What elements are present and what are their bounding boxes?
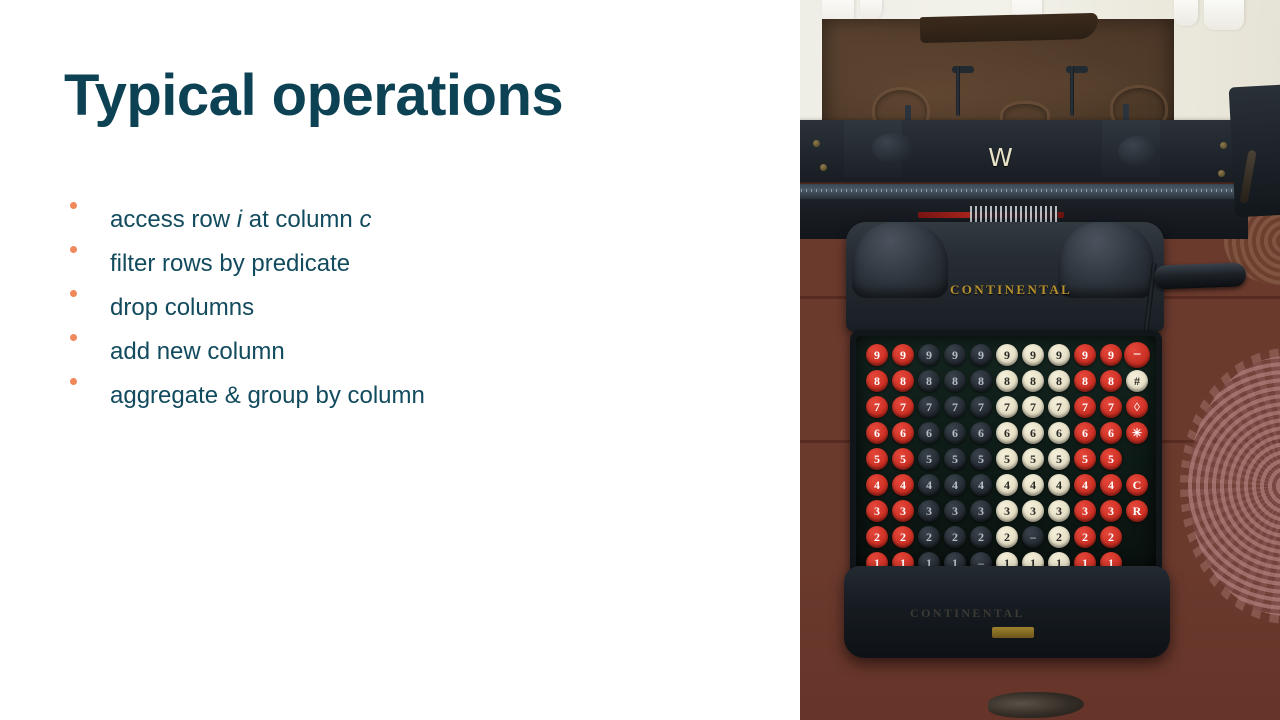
machine-base-badge	[992, 627, 1034, 638]
key-7-col7[interactable]: 7	[1022, 396, 1044, 418]
key-3-col4[interactable]: 3	[944, 500, 966, 522]
key-7-col9[interactable]: 7	[1074, 396, 1096, 418]
key-2-col8[interactable]: 2	[1048, 526, 1070, 548]
key-5-col10[interactable]: 5	[1100, 448, 1122, 470]
key-7-col10[interactable]: 7	[1100, 396, 1122, 418]
content-pane: Typical operations access row i at colum…	[0, 0, 800, 720]
crank-handle-grip	[1154, 262, 1247, 289]
adding-machine-photo: W CONTINENTAL 9999999999−8888888888#7777…	[800, 0, 1280, 720]
function-key-−-row1[interactable]: −	[1124, 342, 1150, 368]
carriage-knob-right	[1118, 136, 1160, 166]
key-9-col4[interactable]: 9	[944, 344, 966, 366]
key-9-col9[interactable]: 9	[1074, 344, 1096, 366]
key-grid: 9999999999−8888888888#7777777777◊6666666…	[864, 342, 1150, 576]
platen-rail	[800, 184, 1248, 200]
slide: Typical operations access row i at colum…	[0, 0, 1280, 720]
list-item-label: add new column	[110, 330, 285, 374]
key-4-col4[interactable]: 4	[944, 474, 966, 496]
key-8-col8[interactable]: 8	[1048, 370, 1070, 392]
key-5-col1[interactable]: 5	[866, 448, 888, 470]
key-2-col1[interactable]: 2	[866, 526, 888, 548]
key-3-col8[interactable]: 3	[1048, 500, 1070, 522]
carriage-post	[1123, 104, 1129, 120]
carriage-rod	[956, 66, 960, 116]
page-title: Typical operations	[64, 66, 563, 127]
bullet-dot-icon	[64, 359, 110, 403]
key-7-col3[interactable]: 7	[918, 396, 940, 418]
key-8-col5[interactable]: 8	[970, 370, 992, 392]
curtain-fold	[1204, 0, 1244, 30]
key-9-col5[interactable]: 9	[970, 344, 992, 366]
function-key-◊-row3[interactable]: ◊	[1126, 396, 1148, 418]
key-6-col10[interactable]: 6	[1100, 422, 1122, 444]
function-key-C-row6[interactable]: C	[1126, 474, 1148, 496]
key-3-col5[interactable]: 3	[970, 500, 992, 522]
key-6-col1[interactable]: 6	[866, 422, 888, 444]
key-4-col7[interactable]: 4	[1022, 474, 1044, 496]
key-6-col6[interactable]: 6	[996, 422, 1018, 444]
key-5-col4[interactable]: 5	[944, 448, 966, 470]
leather-flap	[920, 13, 1099, 43]
curtain-fold	[1174, 0, 1198, 26]
key-8-col9[interactable]: 8	[1074, 370, 1096, 392]
key-6-col9[interactable]: 6	[1074, 422, 1096, 444]
key-7-col5[interactable]: 7	[970, 396, 992, 418]
key-2-col2[interactable]: 2	[892, 526, 914, 548]
key-4-col10[interactable]: 4	[1100, 474, 1122, 496]
machine-base-brand-label: CONTINENTAL	[910, 606, 1110, 621]
key-5-col5[interactable]: 5	[970, 448, 992, 470]
key-2-col6[interactable]: 2	[996, 526, 1018, 548]
key-5-col7[interactable]: 5	[1022, 448, 1044, 470]
function-key-R-row7[interactable]: R	[1126, 500, 1148, 522]
carriage-rod	[1070, 66, 1074, 116]
key-5-col6[interactable]: 5	[996, 448, 1018, 470]
key-9-col3[interactable]: 9	[918, 344, 940, 366]
key-9-col6[interactable]: 9	[996, 344, 1018, 366]
list-item-label: drop columns	[110, 286, 254, 330]
list-item: access row i at column c	[64, 183, 754, 227]
type-comb	[970, 206, 1058, 222]
function-key-empty-row5	[1126, 448, 1148, 470]
key-4-col1[interactable]: 4	[866, 474, 888, 496]
operations-list: access row i at column c filter rows by …	[64, 183, 754, 403]
screw-icon	[813, 140, 820, 147]
key-2-col9[interactable]: 2	[1074, 526, 1096, 548]
key-2-col3[interactable]: 2	[918, 526, 940, 548]
screw-icon	[1220, 142, 1227, 149]
key-5-col8[interactable]: 5	[1048, 448, 1070, 470]
key-8-col2[interactable]: 8	[892, 370, 914, 392]
key-9-col1[interactable]: 9	[866, 344, 888, 366]
key-8-col1[interactable]: 8	[866, 370, 888, 392]
screw-icon	[820, 164, 827, 171]
bullet-dot-icon	[64, 271, 110, 315]
key-6-col4[interactable]: 6	[944, 422, 966, 444]
key-9-col7[interactable]: 9	[1022, 344, 1044, 366]
list-item-label: filter rows by predicate	[110, 242, 350, 286]
key-2-col5[interactable]: 2	[970, 526, 992, 548]
key-5-col3[interactable]: 5	[918, 448, 940, 470]
function-key-✳-row4[interactable]: ✳	[1126, 422, 1148, 444]
bullet-dot-icon	[64, 183, 110, 227]
screw-icon	[1218, 170, 1225, 177]
key-7-col6[interactable]: 7	[996, 396, 1018, 418]
key-3-col3[interactable]: 3	[918, 500, 940, 522]
key-7-col8[interactable]: 7	[1048, 396, 1070, 418]
key-2-col7[interactable]: –	[1022, 526, 1044, 548]
function-key-#-row2[interactable]: #	[1126, 370, 1148, 392]
key-8-col6[interactable]: 8	[996, 370, 1018, 392]
key-4-col3[interactable]: 4	[918, 474, 940, 496]
list-item-label: access row i at column c	[110, 198, 371, 242]
emphasis-column-index: c	[359, 206, 371, 233]
key-6-col7[interactable]: 6	[1022, 422, 1044, 444]
key-6-col8[interactable]: 6	[1048, 422, 1070, 444]
machine-keyboard: 9999999999−8888888888#7777777777◊6666666…	[850, 330, 1162, 578]
key-3-col7[interactable]: 3	[1022, 500, 1044, 522]
key-6-col2[interactable]: 6	[892, 422, 914, 444]
key-7-col4[interactable]: 7	[944, 396, 966, 418]
key-9-col8[interactable]: 9	[1048, 344, 1070, 366]
carriage-knob-left	[872, 133, 914, 163]
key-3-col6[interactable]: 3	[996, 500, 1018, 522]
machine-brand-label: CONTINENTAL	[950, 282, 1110, 298]
key-7-col2[interactable]: 7	[892, 396, 914, 418]
key-5-col9[interactable]: 5	[1074, 448, 1096, 470]
key-8-col4[interactable]: 8	[944, 370, 966, 392]
key-4-col6[interactable]: 4	[996, 474, 1018, 496]
key-9-col10[interactable]: 9	[1100, 344, 1122, 366]
key-3-col10[interactable]: 3	[1100, 500, 1122, 522]
key-9-col2[interactable]: 9	[892, 344, 914, 366]
curtain-fold	[860, 0, 882, 20]
key-4-col9[interactable]: 4	[1074, 474, 1096, 496]
key-6-col3[interactable]: 6	[918, 422, 940, 444]
list-item-label: aggregate & group by column	[110, 374, 425, 418]
key-4-col8[interactable]: 4	[1048, 474, 1070, 496]
key-8-col3[interactable]: 8	[918, 370, 940, 392]
key-2-col4[interactable]: 2	[944, 526, 966, 548]
key-4-col2[interactable]: 4	[892, 474, 914, 496]
winged-w-logo-icon: W	[972, 145, 1028, 171]
key-4-col5[interactable]: 4	[970, 474, 992, 496]
carriage-post	[905, 105, 911, 121]
function-key-empty-row8	[1126, 526, 1148, 548]
key-6-col5[interactable]: 6	[970, 422, 992, 444]
key-2-col10[interactable]: 2	[1100, 526, 1122, 548]
key-3-col2[interactable]: 3	[892, 500, 914, 522]
key-3-col9[interactable]: 3	[1074, 500, 1096, 522]
key-5-col2[interactable]: 5	[892, 448, 914, 470]
key-8-col7[interactable]: 8	[1022, 370, 1044, 392]
machine-shoulder-left	[852, 222, 948, 298]
key-7-col1[interactable]: 7	[866, 396, 888, 418]
key-8-col10[interactable]: 8	[1100, 370, 1122, 392]
bullet-dot-icon	[64, 315, 110, 359]
key-3-col1[interactable]: 3	[866, 500, 888, 522]
bullet-dot-icon	[64, 227, 110, 271]
